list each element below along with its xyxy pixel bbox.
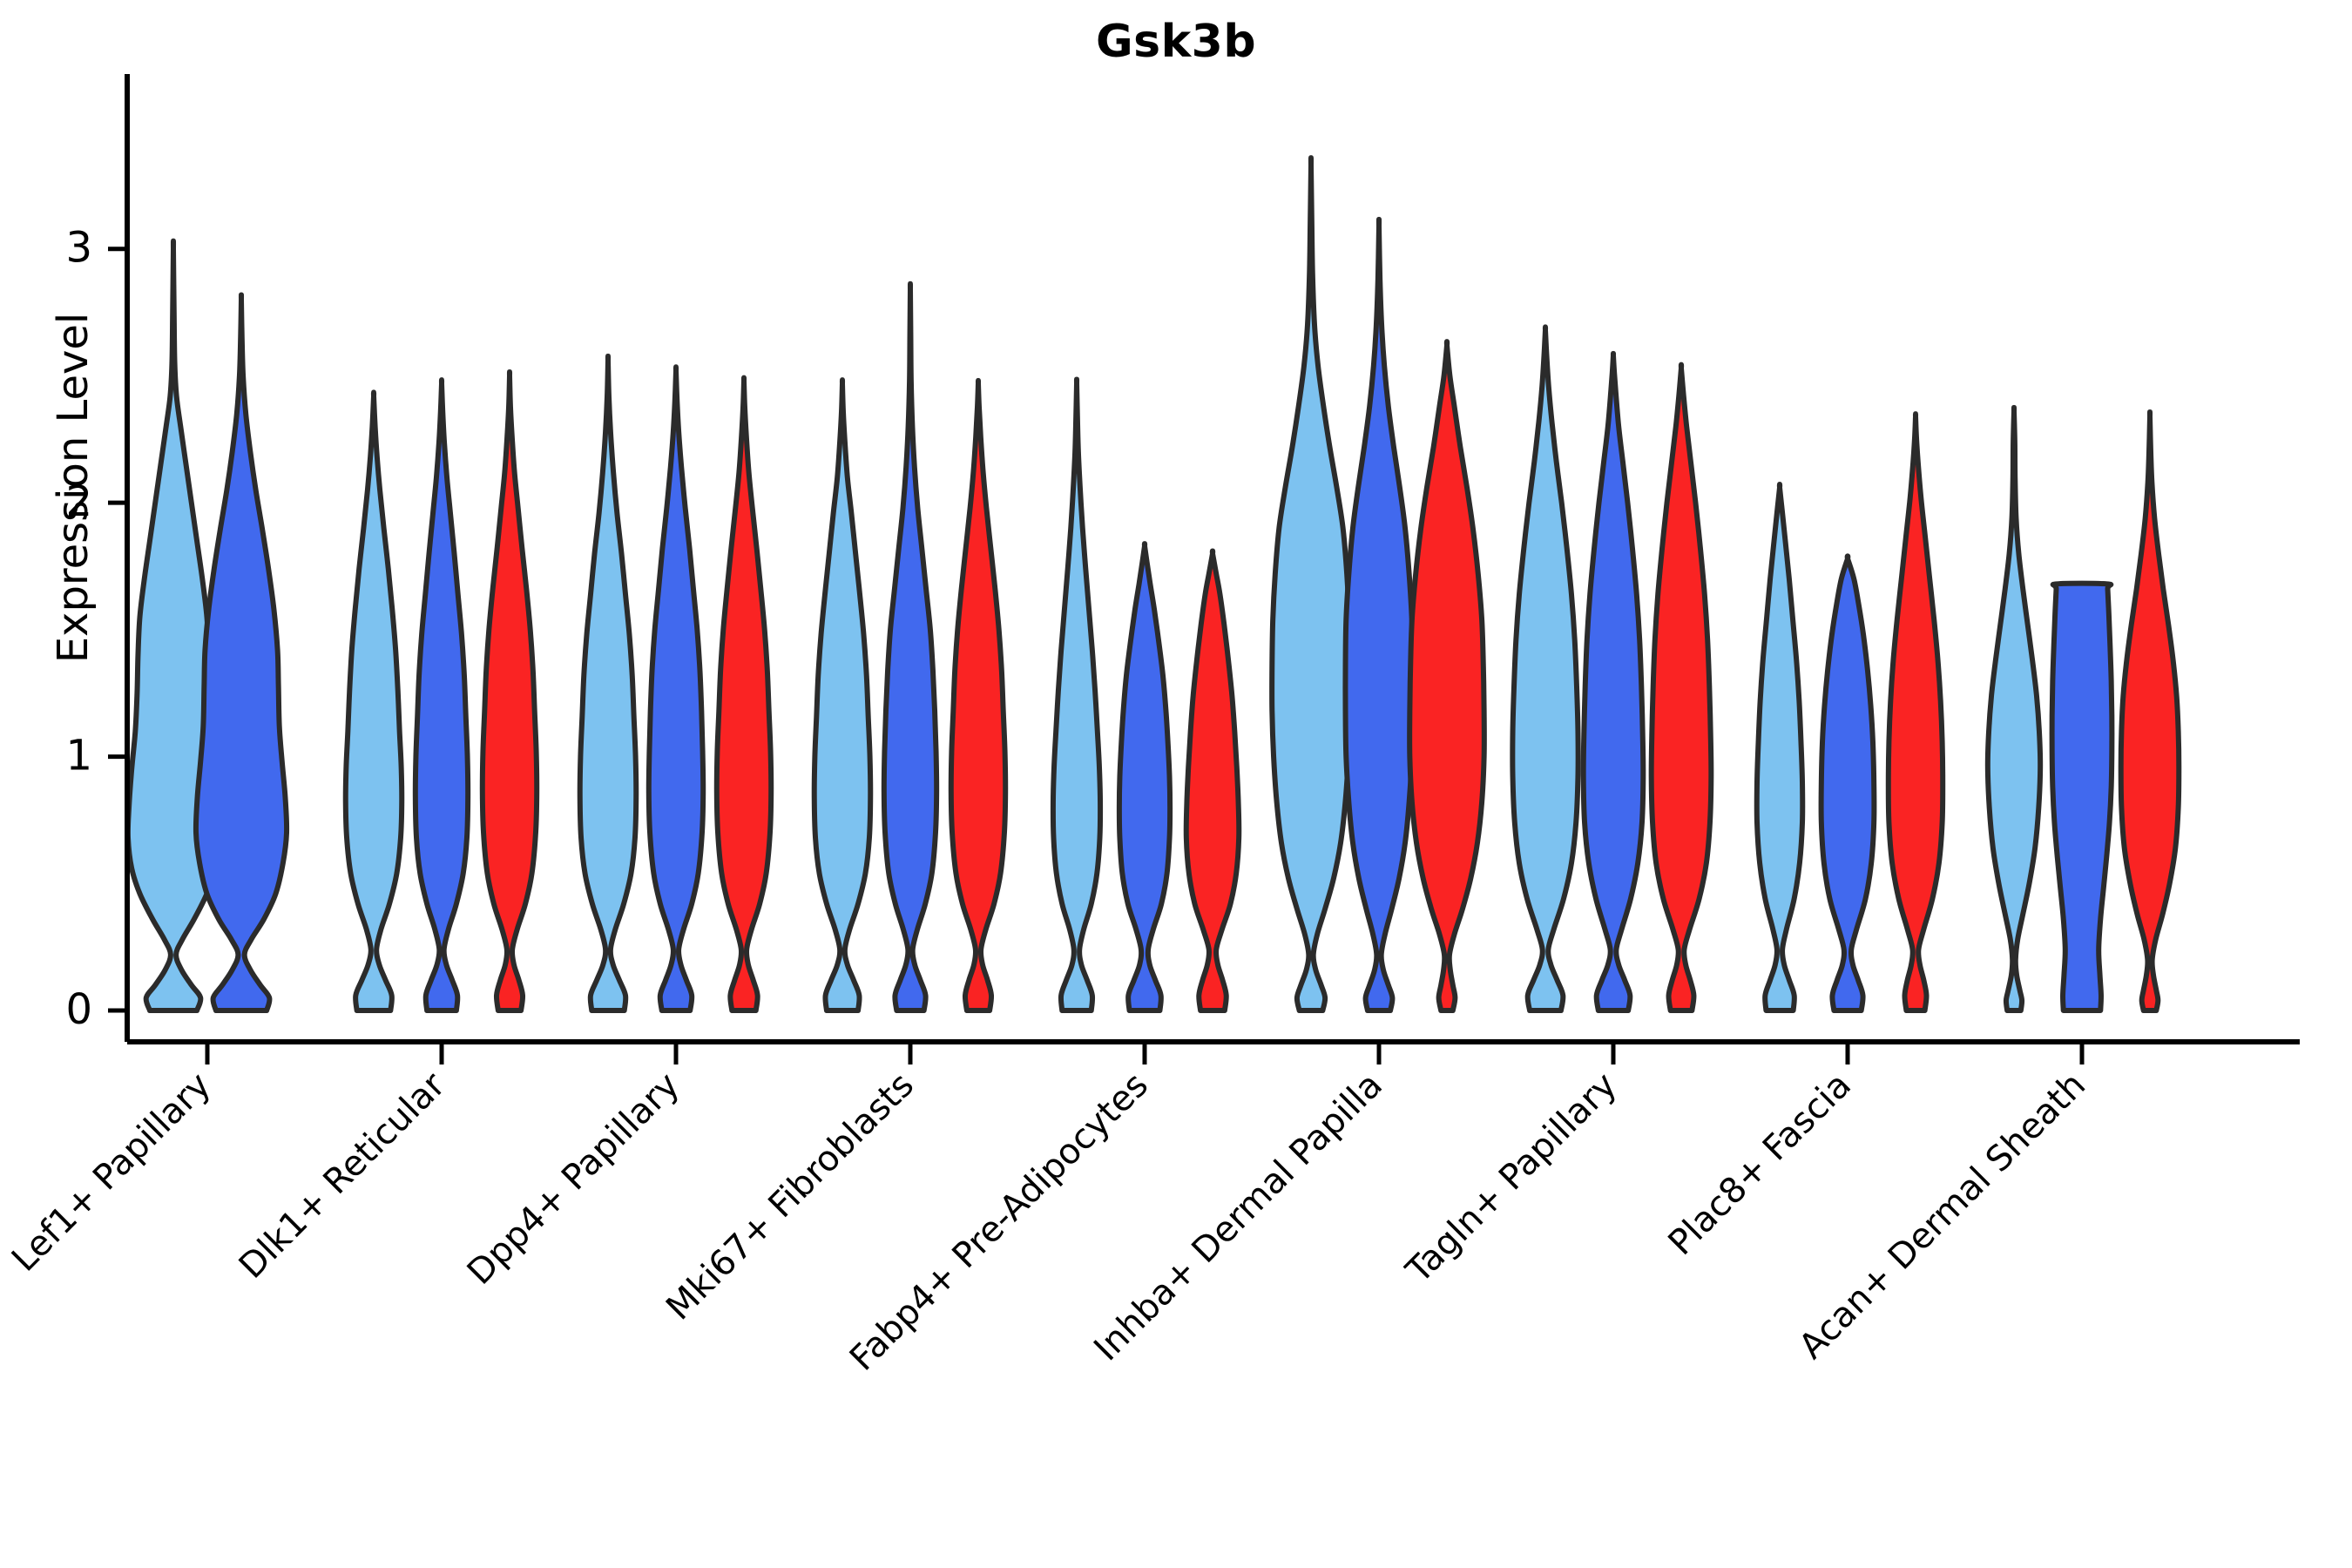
x-tick-labels: Lef1+ PapillaryDlk1+ ReticularDpp4+ Papi… [4, 1064, 2093, 1379]
violin-shape[interactable] [1512, 327, 1578, 1010]
violin-shape[interactable] [1186, 551, 1240, 1010]
x-tick-label: Mki67+ Fibroblasts [659, 1065, 922, 1328]
violin-shape[interactable] [1821, 556, 1875, 1010]
x-tick-label: Tagln+ Papillary [1398, 1065, 1625, 1292]
violin-shape[interactable] [1988, 408, 2040, 1010]
violin-shape[interactable] [1272, 158, 1350, 1010]
violin-shape[interactable] [1345, 220, 1412, 1010]
violin-shape[interactable] [1584, 354, 1644, 1010]
x-tick-label: Dlk1+ Reticular [232, 1064, 454, 1287]
y-tick-label: 0 [65, 985, 92, 1034]
violin-shape[interactable] [1409, 341, 1484, 1010]
x-tick-label: Dpp4+ Papillary [460, 1065, 687, 1293]
violin-shape[interactable] [884, 284, 936, 1010]
x-tick-label: Lef1+ Papillary [4, 1065, 219, 1280]
violin-shape[interactable] [483, 372, 537, 1010]
violin-shape[interactable] [580, 356, 637, 1010]
violin-shape[interactable] [416, 380, 468, 1010]
violin-plot-figure: Gsk3b Expression Level 0123 Lef1+ Papill… [0, 0, 2352, 1568]
violin-shape[interactable] [951, 381, 1005, 1010]
y-tick-labels: 0123 [65, 224, 92, 1034]
violin-shape[interactable] [2052, 584, 2112, 1010]
y-tick-label: 1 [65, 732, 92, 781]
violin-shape[interactable] [346, 392, 402, 1010]
violin-shape[interactable] [1053, 379, 1100, 1010]
y-tick-label: 3 [65, 224, 92, 273]
violin-shape[interactable] [1652, 365, 1712, 1010]
violin-shape[interactable] [1889, 414, 1943, 1010]
violin-shape[interactable] [1757, 484, 1803, 1010]
violin-shape[interactable] [196, 295, 287, 1010]
violin-shape[interactable] [717, 378, 771, 1010]
chart-canvas: 0123 Lef1+ PapillaryDlk1+ ReticularDpp4+… [0, 0, 2352, 1568]
violins-layer [128, 158, 2179, 1010]
y-tick-label: 2 [65, 477, 92, 526]
violin-shape[interactable] [1119, 544, 1170, 1010]
violin-shape[interactable] [649, 367, 703, 1010]
violin-shape[interactable] [2121, 412, 2180, 1010]
violin-shape[interactable] [814, 380, 871, 1010]
x-tick-label: Plac8+ Fascia [1661, 1065, 1860, 1264]
